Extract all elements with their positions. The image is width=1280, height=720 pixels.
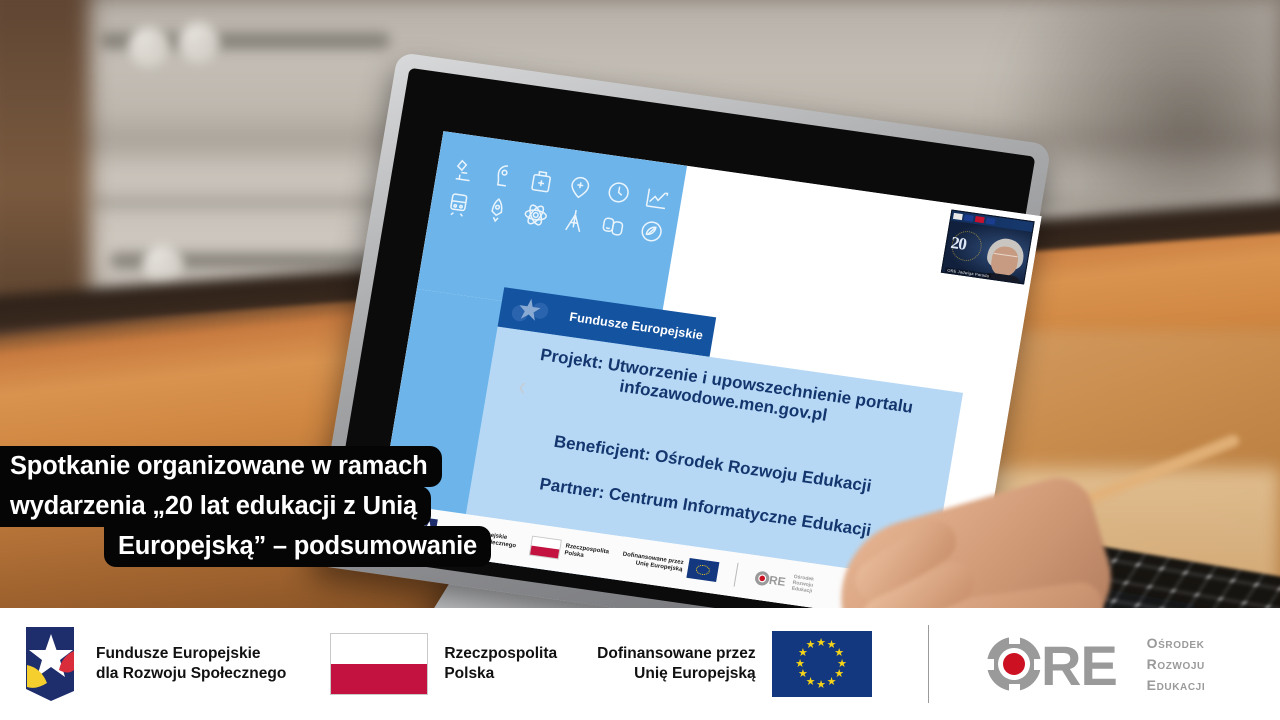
fundusze-europejskie-mark-icon (504, 292, 565, 331)
slide-footer-pl: Rzeczpospolita Polska (529, 536, 610, 567)
footer-fe-line2: dla Rozwoju Społecznego (96, 664, 286, 684)
drawer-knob (142, 244, 184, 286)
train-icon (437, 188, 478, 221)
slide-project-line: Projekt: Utworzenie i upowszechnienie po… (499, 340, 951, 444)
footer-ore-line2: Rozwoju (1147, 654, 1206, 675)
microscope-icon (443, 154, 484, 187)
theatre-masks-icon (592, 209, 633, 242)
eu-flag-icon (686, 558, 719, 582)
footer-logo-bar: Fundusze Europejskie dla Rozwoju Społecz… (0, 608, 1280, 720)
caption-line-3: Europejską” – podsumowanie (104, 526, 491, 567)
eu-star-icon: ★ (816, 638, 826, 649)
flag-chip (975, 216, 985, 223)
footer-eu-line1: Dofinansowane przez (597, 644, 755, 664)
footer-pl-line1: Rzeczpospolita (444, 644, 557, 664)
clock-icon (598, 176, 639, 209)
footer-pl-line2: Polska (444, 664, 557, 684)
eu-star-icon: ★ (795, 659, 805, 670)
easel-icon (553, 204, 594, 237)
footer-eu-line2: Unię Europejską (597, 664, 755, 684)
footer-fe-line1: Fundusze Europejskie (96, 644, 286, 664)
caption-line-1: Spotkanie organizowane w ramach (0, 446, 442, 487)
footer-ore-logo: RE Ośrodek Rozwoju Edukacji (985, 633, 1206, 696)
poland-flag-icon (330, 633, 428, 695)
eu-flag-icon: ★★★★★★★★★★★★ (772, 631, 872, 697)
caption-line-2: wydarzenia „20 lat edukacji z Unią (0, 486, 431, 527)
first-aid-case-icon (520, 165, 561, 198)
heart-location-icon (559, 170, 600, 203)
ore-wordmark: RE (1041, 635, 1117, 693)
leaf-icon (630, 215, 671, 248)
video-tile-body: 20 ORE Jadwiga Parada (942, 221, 1034, 285)
footer-divider (928, 625, 929, 703)
ore-logo-icon: RE (985, 635, 1135, 693)
footer-ore-line1: Ośrodek (1147, 633, 1206, 654)
atom-icon (515, 199, 556, 232)
slide-footer-ore: RE Ośrodek Rozwoju Edukacji (753, 568, 815, 595)
footer-fundusze-europejskie: Fundusze Europejskie dla Rozwoju Społecz… (22, 625, 286, 703)
eu-star-icon: ★ (827, 677, 837, 688)
flag-chip (986, 218, 996, 225)
eu-star-icon: ★ (806, 640, 816, 651)
head-profile-icon (482, 159, 523, 192)
drawer-knob (178, 22, 220, 64)
eu-star-icon: ★ (816, 680, 826, 691)
growth-chart-icon (636, 181, 677, 214)
flag-chip (953, 213, 963, 220)
rocket-icon (476, 193, 517, 226)
footer-rzeczpospolita-polska: Rzeczpospolita Polska (330, 633, 557, 695)
promotional-banner: Fundusze Europejskie Projekt: Utworzenie… (0, 0, 1280, 720)
svg-text:RE: RE (768, 573, 787, 589)
footer-ore-line3: Edukacji (1147, 675, 1206, 696)
ore-logo-icon: RE (753, 569, 789, 590)
video-participant-tile[interactable]: 20 ORE Jadwiga Parada (941, 210, 1035, 285)
fundusze-europejskie-logo-icon (22, 625, 80, 703)
slide-footer-eu: Dofinansowane przez Unię Europejską (620, 549, 719, 582)
photo-area: Fundusze Europejskie Projekt: Utworzenie… (0, 0, 1280, 608)
eu-star-icon: ★ (798, 669, 808, 680)
flag-chip (964, 214, 974, 221)
caption-overlay: Spotkanie organizowane w ramach wydarzen… (0, 446, 540, 567)
drawer-knob (128, 26, 170, 68)
slide-footer-divider (733, 563, 738, 587)
footer-dofinansowane-ue: Dofinansowane przez Unię Europejską ★★★★… (597, 631, 871, 697)
